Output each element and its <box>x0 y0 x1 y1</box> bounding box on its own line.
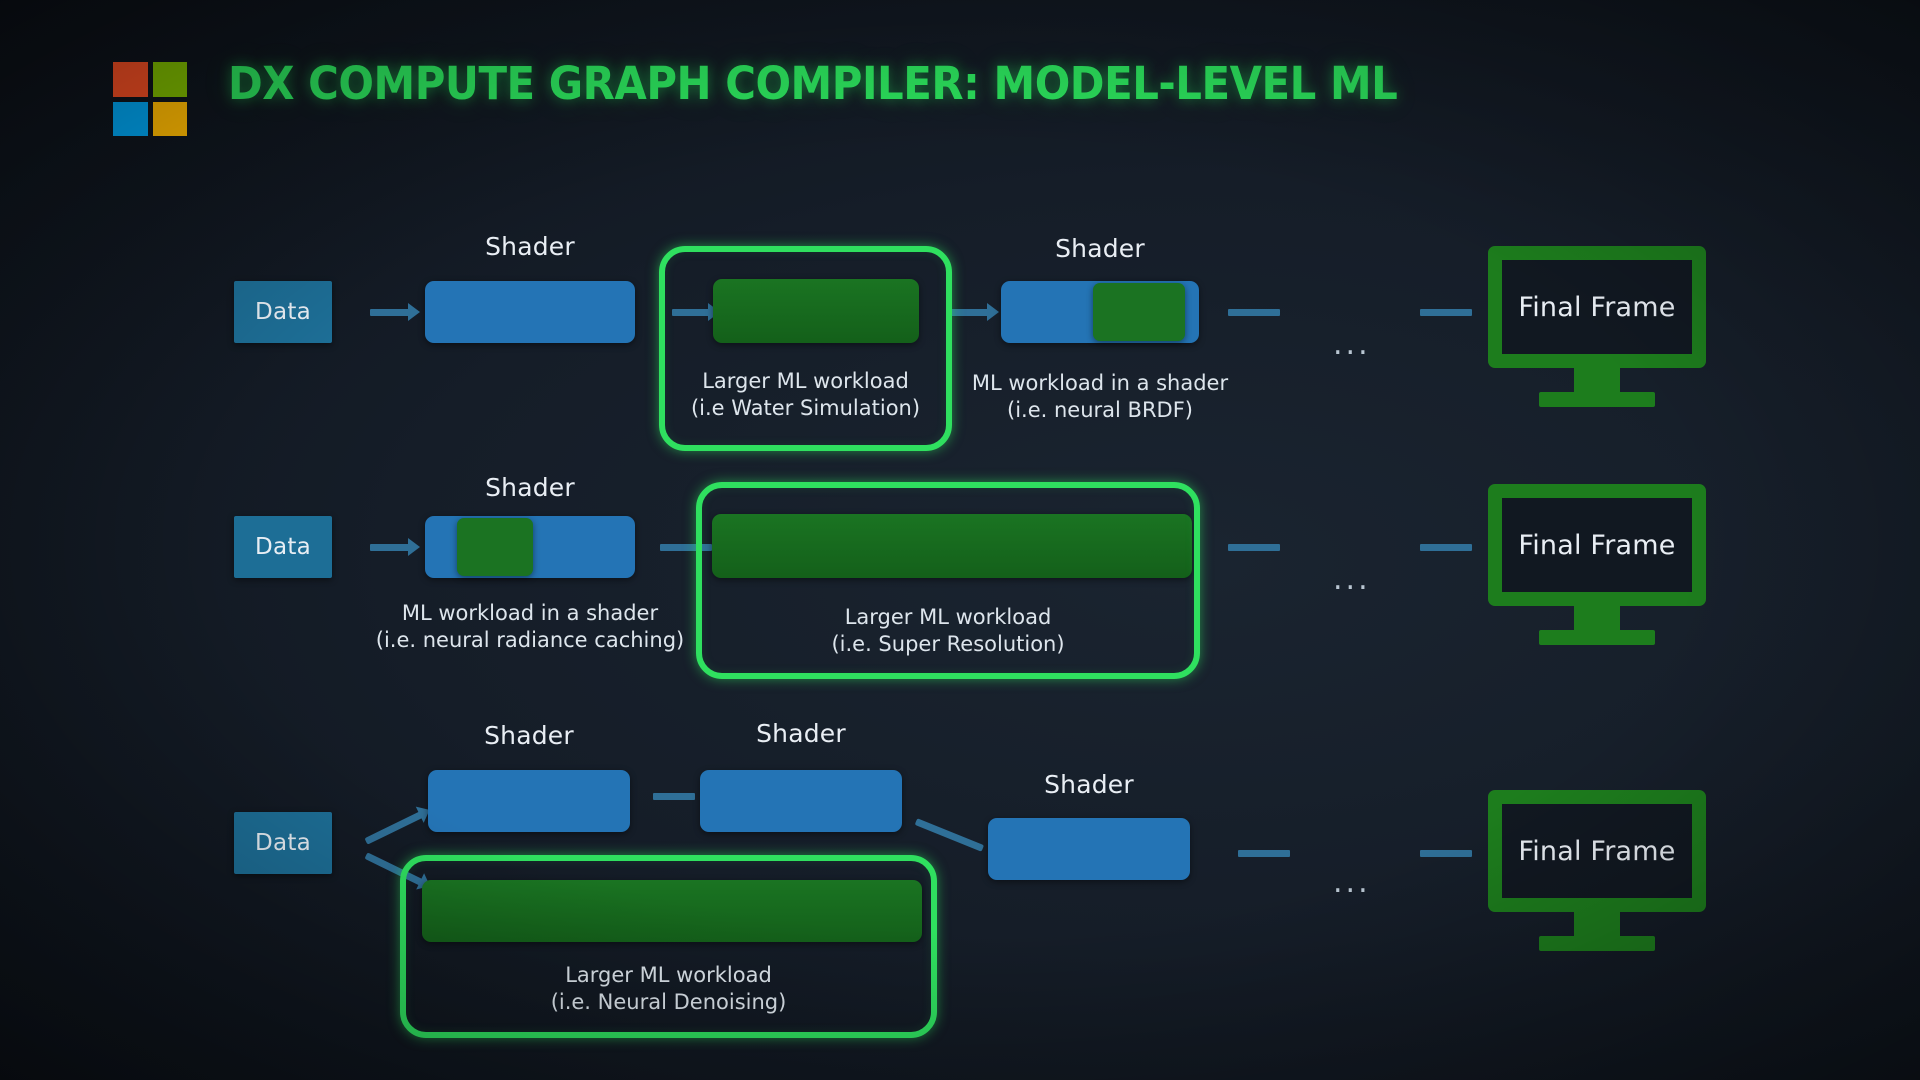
caption-line-2: (i.e Water Simulation) <box>659 395 952 422</box>
row1-dash-1 <box>1228 309 1280 316</box>
caption-line-1: Larger ML workload <box>696 604 1200 631</box>
row3-shader-label-2: Shader <box>700 719 902 748</box>
row1-ellipsis: ... <box>1333 330 1371 360</box>
row2-dash-1 <box>660 544 712 551</box>
row1-dash-2 <box>1420 309 1472 316</box>
row1-final-frame-label: Final Frame <box>1488 246 1706 368</box>
row1-shader-node-2[interactable] <box>1001 281 1199 343</box>
row1-arrow-1 <box>370 309 410 316</box>
diagram-canvas: Data Shader Larger ML workload (i.e Wate… <box>0 0 1920 1080</box>
row2-arrow-1 <box>370 544 410 551</box>
monitor-base <box>1539 392 1655 407</box>
row3-dash-2 <box>1238 850 1290 857</box>
monitor-neck <box>1574 912 1620 936</box>
row3-data-node[interactable]: Data <box>234 812 332 874</box>
row3-ellipsis: ... <box>1333 868 1371 898</box>
caption-neural-denoising: Larger ML workload (i.e. Neural Denoisin… <box>400 962 937 1016</box>
row1-shader-node-1[interactable] <box>425 281 635 343</box>
caption-line-2: (i.e. Neural Denoising) <box>400 989 937 1016</box>
monitor-neck <box>1574 368 1620 392</box>
monitor-base <box>1539 630 1655 645</box>
row2-shader-label-1: Shader <box>425 473 635 502</box>
caption-line-1: ML workload in a shader <box>960 370 1240 397</box>
row3-dash-3 <box>1420 850 1472 857</box>
row3-shader-node-2[interactable] <box>700 770 902 832</box>
row2-data-node[interactable]: Data <box>234 516 332 578</box>
row2-dash-2 <box>1228 544 1280 551</box>
caption-neural-brdf: ML workload in a shader (i.e. neural BRD… <box>960 370 1240 424</box>
caption-water-simulation: Larger ML workload (i.e Water Simulation… <box>659 368 952 422</box>
row3-branch-arrow-upper <box>364 811 423 844</box>
caption-line-1: ML workload in a shader <box>370 600 690 627</box>
row1-data-node[interactable]: Data <box>234 281 332 343</box>
row2-shader-node-1[interactable] <box>425 516 635 578</box>
row3-shader-label-1: Shader <box>428 721 630 750</box>
row2-embedded-ml-block <box>457 518 533 576</box>
row3-shader-node-1[interactable] <box>428 770 630 832</box>
row2-dash-3 <box>1420 544 1472 551</box>
row3-final-frame-monitor[interactable]: Final Frame <box>1488 790 1706 952</box>
row2-final-frame-monitor[interactable]: Final Frame <box>1488 484 1706 646</box>
row3-ml-workload-node[interactable] <box>422 880 922 942</box>
row1-embedded-ml-block <box>1093 283 1185 341</box>
row3-connector-diagonal <box>915 818 984 851</box>
row3-branch-arrow-lower <box>364 852 423 885</box>
caption-line-1: Larger ML workload <box>400 962 937 989</box>
row1-final-frame-monitor[interactable]: Final Frame <box>1488 246 1706 408</box>
caption-line-2: (i.e. neural radiance caching) <box>370 627 690 654</box>
monitor-base <box>1539 936 1655 951</box>
row1-shader-label-1: Shader <box>425 232 635 261</box>
caption-line-2: (i.e. neural BRDF) <box>960 397 1240 424</box>
caption-line-2: (i.e. Super Resolution) <box>696 631 1200 658</box>
row3-shader-label-3: Shader <box>988 770 1190 799</box>
caption-neural-radiance-caching: ML workload in a shader (i.e. neural rad… <box>370 600 690 654</box>
row3-final-frame-label: Final Frame <box>1488 790 1706 912</box>
caption-super-resolution: Larger ML workload (i.e. Super Resolutio… <box>696 604 1200 658</box>
row3-dash-1 <box>653 793 695 800</box>
row3-shader-node-3[interactable] <box>988 818 1190 880</box>
row1-arrow-2 <box>672 309 710 316</box>
row2-final-frame-label: Final Frame <box>1488 484 1706 606</box>
monitor-neck <box>1574 606 1620 630</box>
row1-shader-label-2: Shader <box>1001 234 1199 263</box>
caption-line-1: Larger ML workload <box>659 368 952 395</box>
row2-ml-workload-node[interactable] <box>712 514 1192 578</box>
row2-ellipsis: ... <box>1333 565 1371 595</box>
row1-arrow-3 <box>951 309 989 316</box>
row1-ml-workload-node[interactable] <box>713 279 919 343</box>
